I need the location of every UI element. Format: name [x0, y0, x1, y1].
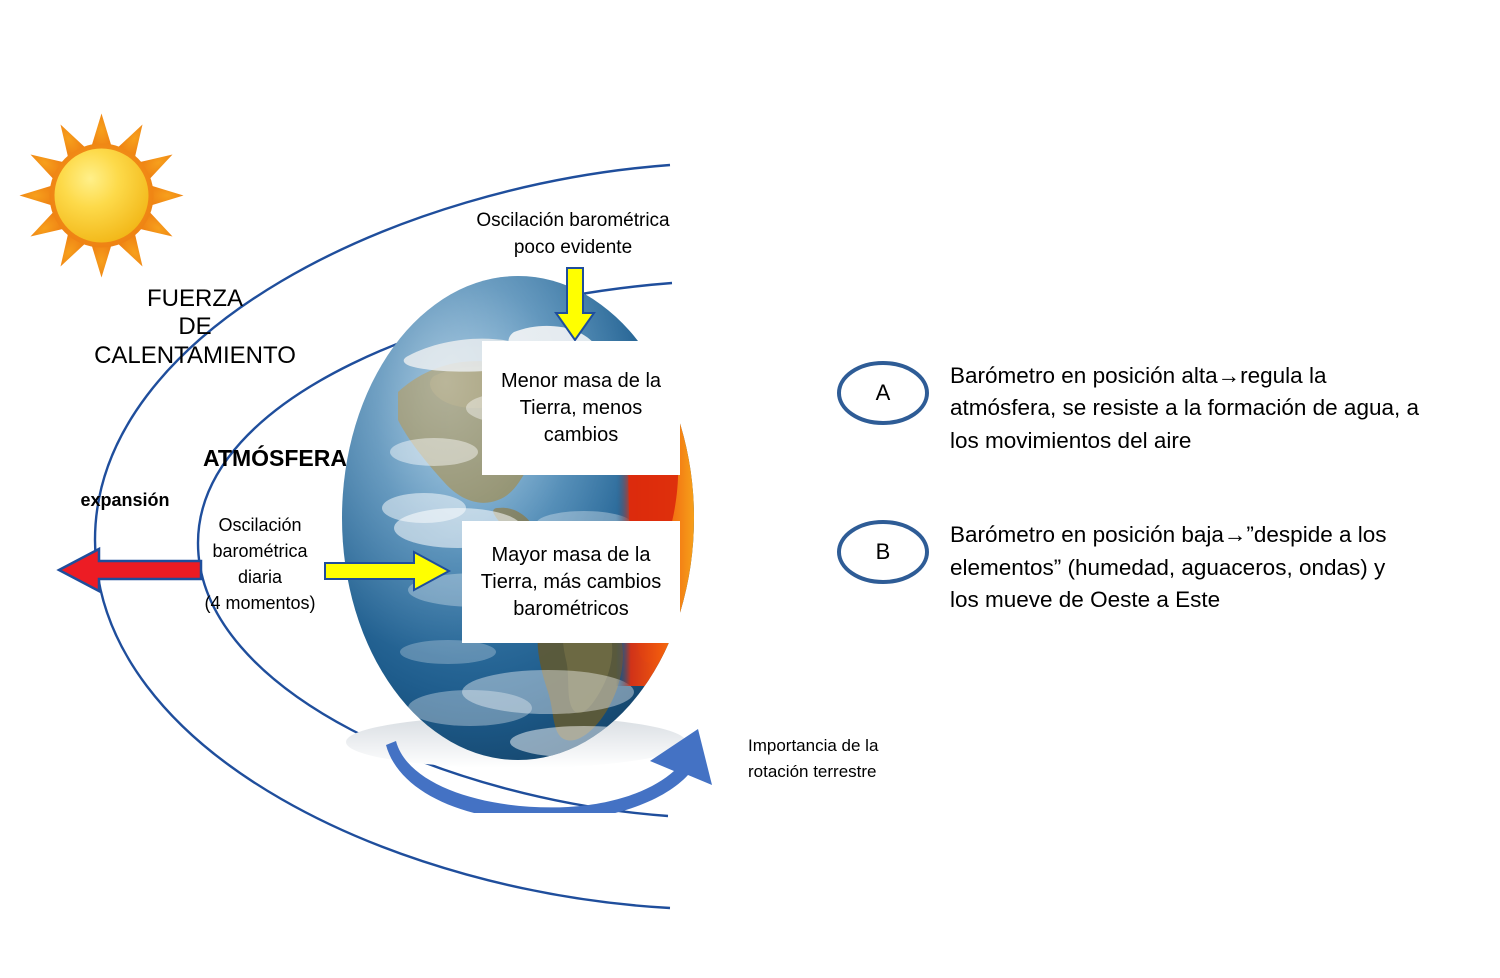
faint-osc-line-2: poco evidente — [448, 235, 698, 262]
blue-rotation-arrow-icon — [382, 713, 722, 813]
yellow-right-arrow-icon — [322, 549, 452, 593]
legend-badge-b-letter: B — [836, 519, 930, 585]
yellow-down-arrow-icon — [553, 265, 597, 343]
legend-badge-a-letter: A — [836, 360, 930, 426]
legend-badge-a: A — [836, 360, 930, 426]
daily-osc-line-2: barométrica — [175, 538, 345, 564]
legend-text-b: Barómetro en posición baja→”despide a lo… — [950, 519, 1420, 616]
barometric-oscillation-faint-label: Oscilación barométrica poco evidente — [448, 208, 698, 261]
callout-menor-masa: Menor masa de la Tierra, menos cambios — [482, 341, 680, 475]
daily-osc-line-4: (4 momentos) — [175, 590, 345, 616]
expansion-label: expansión — [30, 490, 220, 511]
diagram-canvas: FUERZA DE CALENTAMIENTO ATMÓSFERA expans… — [0, 0, 1500, 978]
daily-osc-line-1: Oscilación — [175, 512, 345, 538]
faint-osc-line-1: Oscilación barométrica — [448, 208, 698, 235]
heating-force-line-2: DE — [70, 313, 320, 341]
sun-icon — [14, 108, 189, 283]
rotation-importance-label: Importancia de la rotación terrestre — [748, 733, 948, 784]
daily-osc-line-3: diaria — [175, 564, 345, 590]
legend: A Barómetro en posición alta→regula la a… — [836, 360, 1436, 678]
legend-row-b: B Barómetro en posición baja→”despide a … — [836, 519, 1436, 616]
heating-force-label: FUERZA DE CALENTAMIENTO — [70, 285, 320, 370]
legend-row-a: A Barómetro en posición alta→regula la a… — [836, 360, 1436, 457]
heating-force-line-1: FUERZA — [70, 285, 320, 313]
daily-barometric-oscillation-label: Oscilación barométrica diaria (4 momento… — [175, 512, 345, 616]
callout-mayor-masa: Mayor masa de la Tierra, más cambios bar… — [462, 521, 680, 643]
legend-badge-b: B — [836, 519, 930, 585]
rotation-line-2: rotación terrestre — [748, 759, 948, 785]
legend-text-a: Barómetro en posición alta→regula la atm… — [950, 360, 1420, 457]
rotation-line-1: Importancia de la — [748, 733, 948, 759]
heating-force-line-3: CALENTAMIENTO — [70, 342, 320, 370]
